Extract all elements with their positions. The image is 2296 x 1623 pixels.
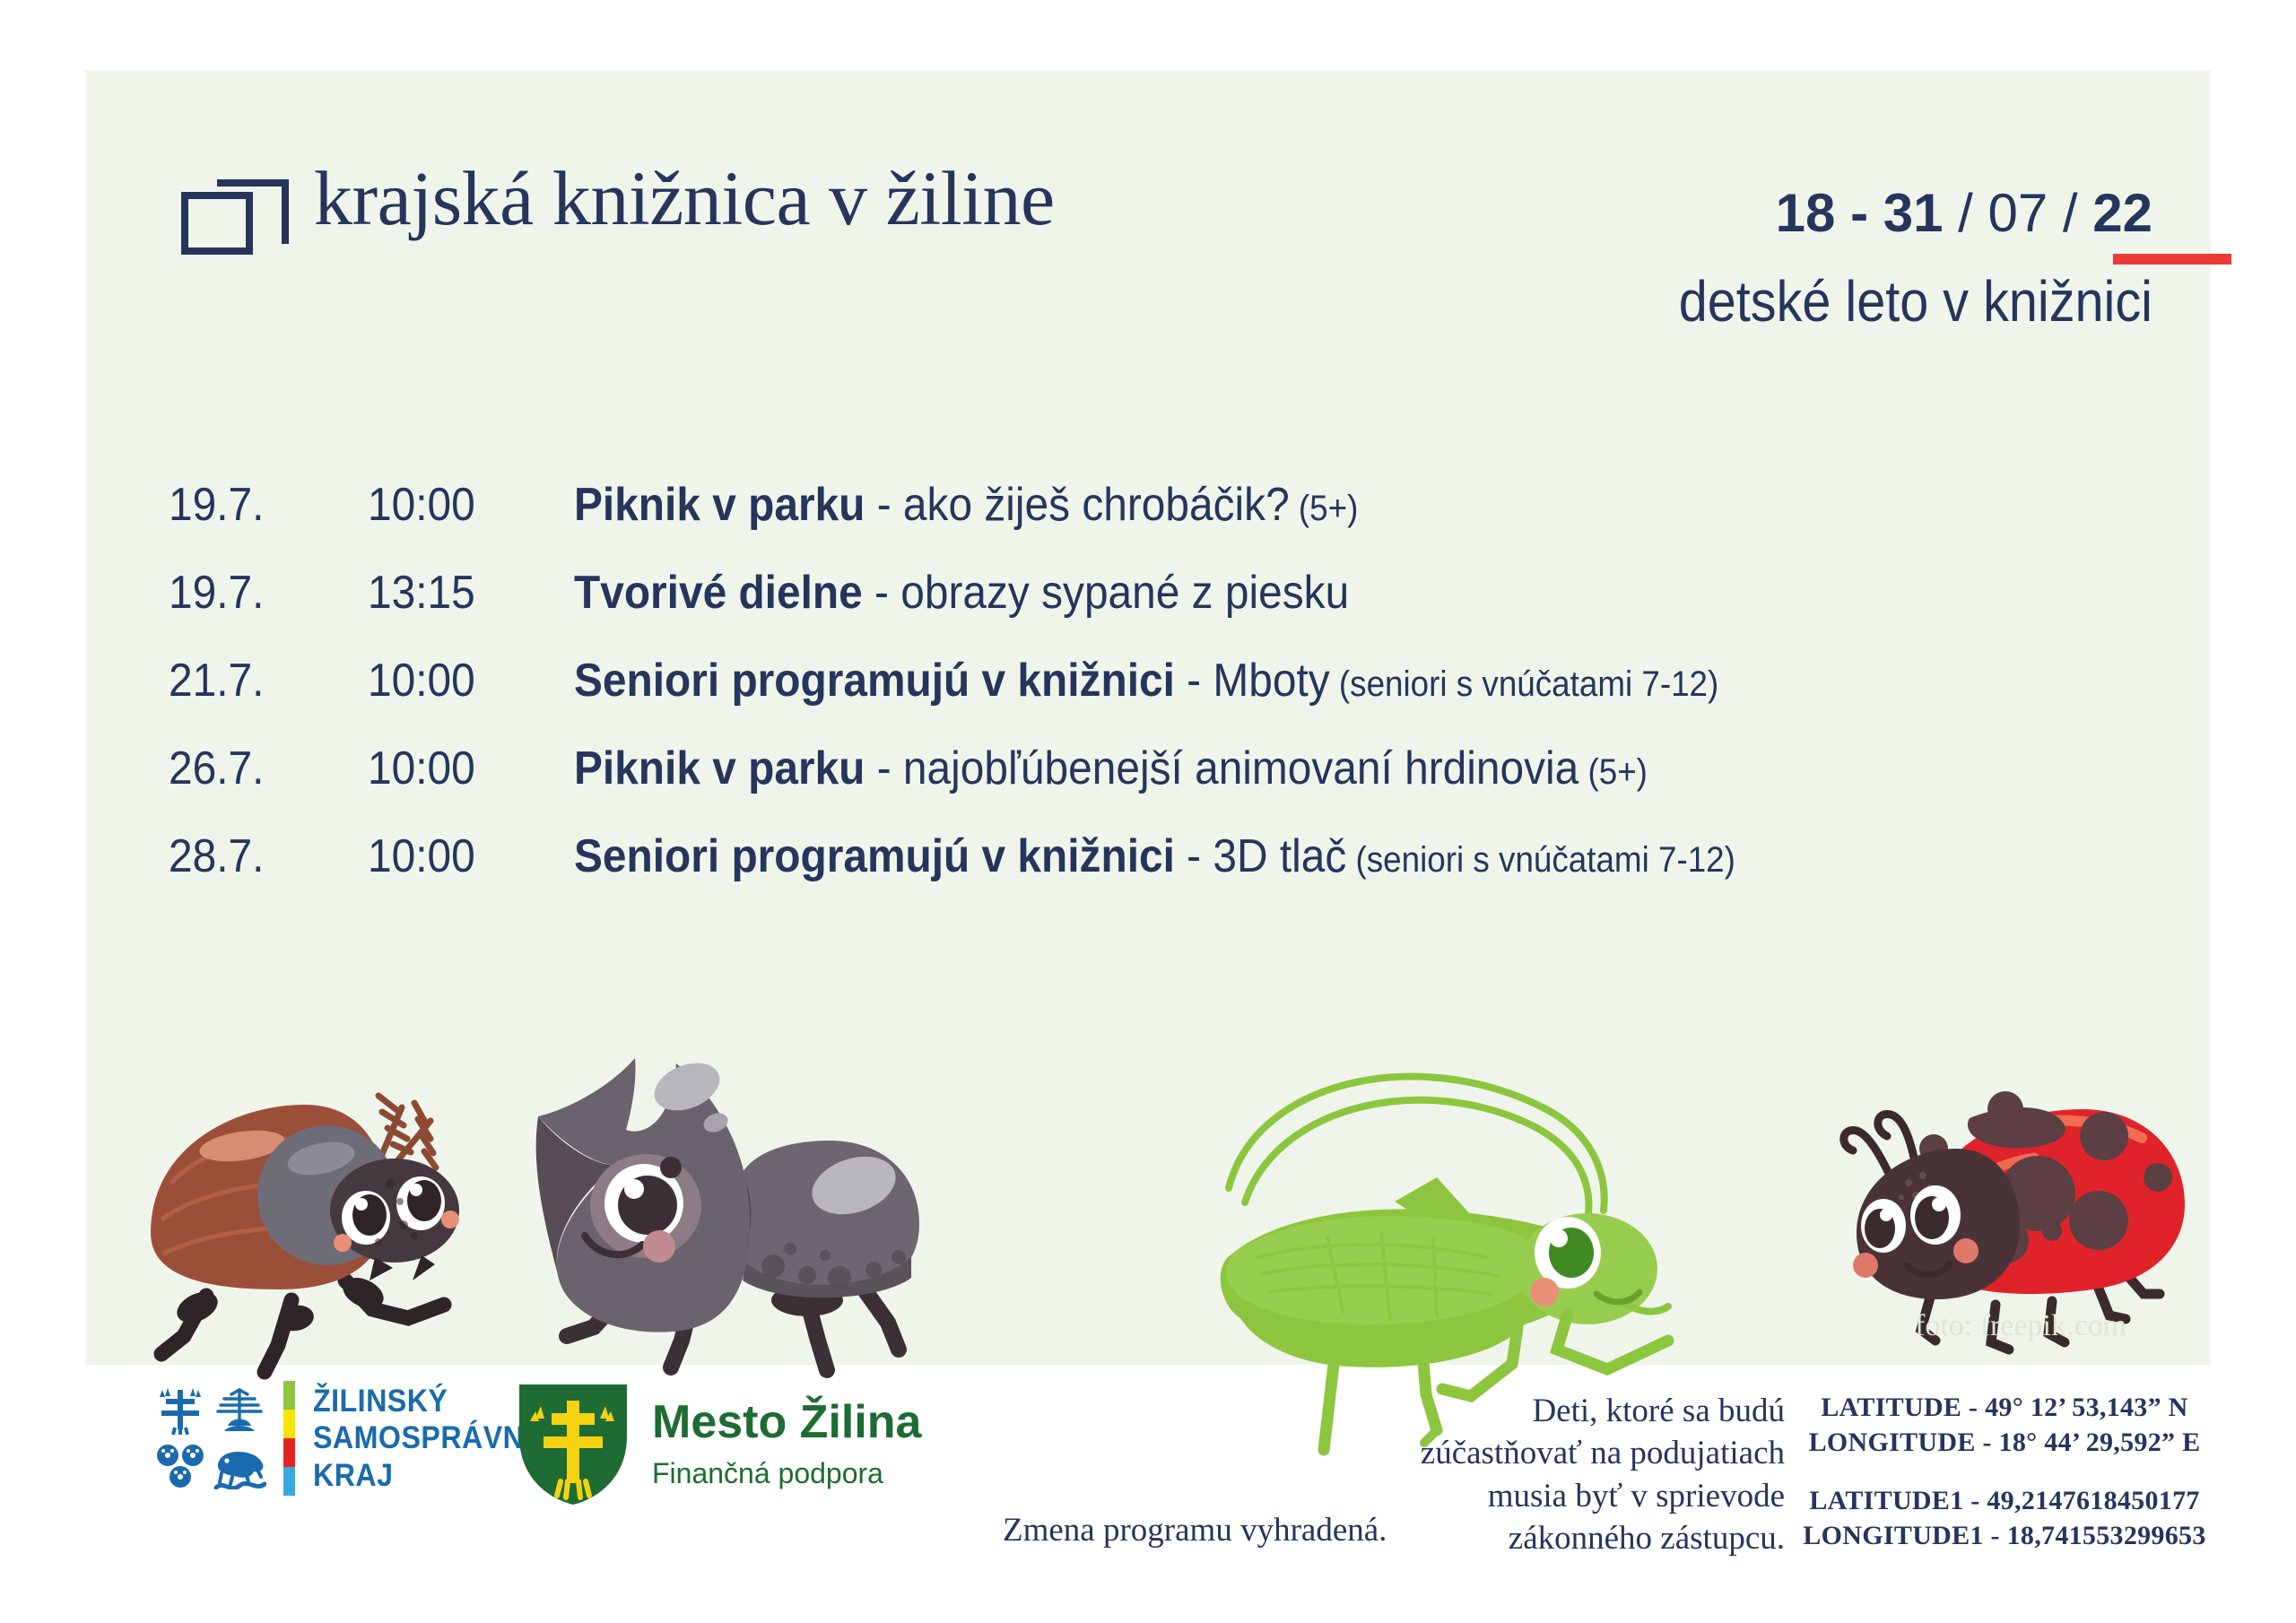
zilina-wordmark: Mesto Žilina Finančná podpora [652,1397,921,1490]
roses-icon [152,1440,208,1492]
program-title: Tvorivé dielne [574,567,863,619]
coordinates-block: LATITUDE - 49° 12’ 53,143” N LONGITUDE -… [1803,1390,2206,1553]
program-date: 28.7. [169,829,352,883]
zsk-heraldic-icons [152,1384,267,1492]
latitude-dms: LATITUDE - 49° 12’ 53,143” N [1803,1390,2206,1425]
program-title: Seniori programujú v knižnici [574,655,1175,707]
program-date: 19.7. [169,478,352,532]
program-description: obrazy sypané z piesku [900,567,1349,619]
program-row: 21.7. 10:00 Seniori programujú v knižnic… [169,654,2142,742]
page-title: krajská knižnica v žiline [314,160,1055,237]
program-text: Piknik v parku - najobľúbenejší animovan… [574,742,1648,795]
date-year: 22 [2092,183,2152,243]
program-title: Seniori programujú v knižnici [574,830,1175,882]
zsk-color-bar [283,1381,295,1496]
date-range: 18 - 31 / 07 / 22 [1776,187,2152,240]
program-description: Mboty [1213,655,1329,707]
program-date: 26.7. [169,742,352,795]
program-title: Piknik v parku [574,479,865,531]
program-row: 26.7. 10:00 Piknik v parku - najobľúbene… [169,742,2142,829]
double-cross-icon [152,1384,208,1436]
zsk-line-1: ŽILINSKÝ [313,1383,544,1419]
date-days: 18 - 31 [1776,183,1944,243]
zilinsky-samospravny-kraj-logo: ŽILINSKÝ SAMOSPRÁVNY KRAJ [152,1381,564,1496]
longitude-decimal: LONGITUDE1 - 18,741553299653 [1803,1518,2206,1553]
date-sep-1: / [1943,183,1987,243]
program-row: 19.7. 13:15 Tvorivé dielne - obrazy sypa… [169,566,2142,654]
program-description: najobľúbenejší animovaní hrdinovia [903,742,1578,794]
program-time: 10:00 [368,829,558,883]
program-separator: - [863,567,901,619]
program-text: Tvorivé dielne - obrazy sypané z piesku [574,566,1349,620]
program-text: Seniori programujú v knižnici - Mboty (s… [574,654,1718,707]
program-separator: - [1175,655,1213,707]
program-title: Piknik v parku [574,742,865,794]
program-list: 19.7. 10:00 Piknik v parku - ako žiješ c… [169,478,2142,917]
photo-credit: foto: freepik.com [1915,1309,2126,1343]
bear-and-wave-icon [212,1440,267,1492]
date-month: 07 [1987,183,2048,243]
program-description: 3D tlač [1213,830,1346,882]
poster-subtitle: detské leto v knižnici [1679,272,2152,332]
zilina-subtitle: Finančná podpora [652,1457,921,1490]
program-note: (5+) [1578,752,1648,792]
red-accent-rule [2113,254,2231,265]
guardian-note: Deti, ktoré sa budú zúčastňovať na poduj… [1408,1390,1785,1559]
program-text: Piknik v parku - ako žiješ chrobáčik? (5… [574,478,1358,532]
program-separator: - [1175,830,1213,882]
date-sep-2: / [2048,183,2092,243]
rhinoceros-beetle-illustration [511,1031,933,1390]
poster-root: krajská knižnica v žiline 18 - 31 / 07 /… [0,0,2296,1623]
zilina-coat-of-arms-icon [516,1381,631,1506]
program-date: 19.7. [169,566,352,620]
library-frame-icon [178,176,292,258]
program-note: (5+) [1290,489,1359,528]
program-text: Seniori programujú v knižnici - 3D tlač … [574,829,1735,883]
program-separator: - [865,479,903,531]
program-separator: - [865,742,903,794]
program-time: 13:15 [368,566,558,620]
program-note: (seniori s vnúčatami 7-12) [1330,664,1719,704]
zsk-line-2: SAMOSPRÁVNY [313,1419,544,1456]
program-time: 10:00 [368,654,558,707]
program-row: 19.7. 10:00 Piknik v parku - ako žiješ c… [169,478,2142,566]
program-change-note: Zmena programu vyhradená. [1003,1511,1387,1549]
coordinates-spacer [1803,1460,2206,1483]
program-row: 28.7. 10:00 Seniori programujú v knižnic… [169,829,2142,917]
program-description: ako žiješ chrobáčik? [903,479,1290,531]
linden-tree-icon [212,1384,267,1436]
latitude-decimal: LATITUDE1 - 49,2147618450177 [1803,1483,2206,1518]
zilina-name: Mesto Žilina [652,1397,921,1448]
cockchafer-beetle-illustration [135,1049,511,1390]
mesto-zilina-logo: Mesto Žilina Finančná podpora [516,1381,921,1506]
zsk-line-3: KRAJ [313,1457,544,1494]
program-note: (seniori s vnúčatami 7-12) [1346,840,1735,880]
zsk-wordmark: ŽILINSKÝ SAMOSPRÁVNY KRAJ [313,1383,544,1494]
longitude-dms: LONGITUDE - 18° 44’ 29,592” E [1803,1425,2206,1460]
program-date: 21.7. [169,654,352,707]
program-time: 10:00 [368,478,558,532]
program-time: 10:00 [368,742,558,795]
